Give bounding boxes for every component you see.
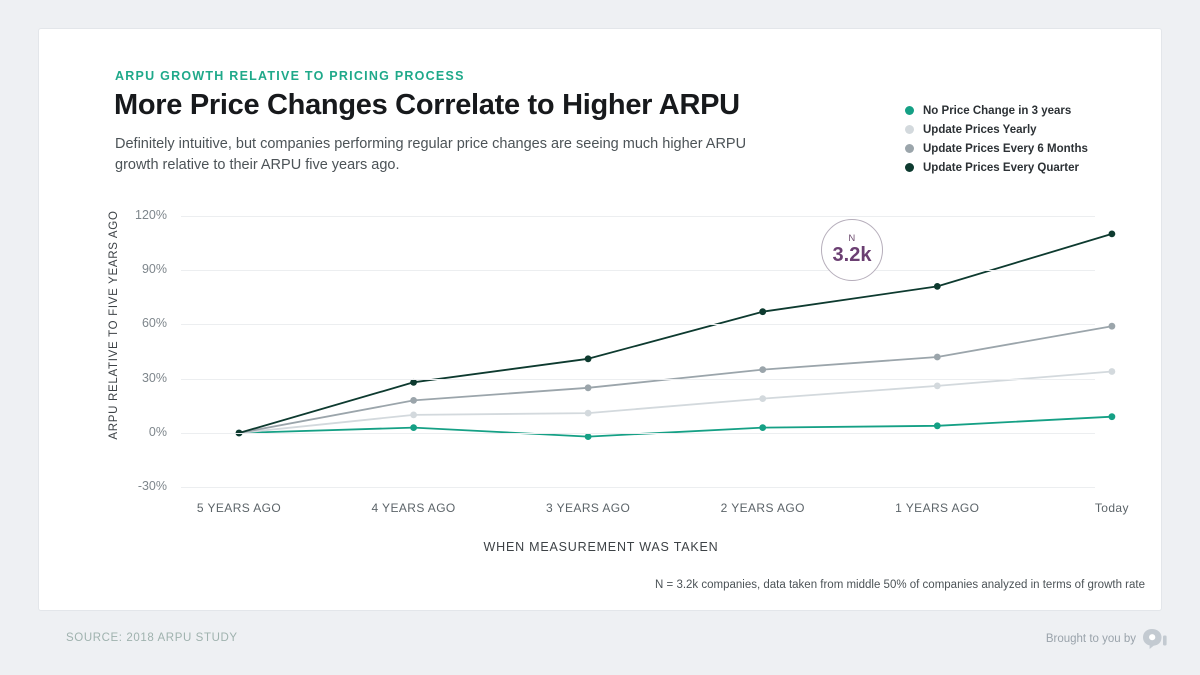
series-data-point[interactable] [1109, 231, 1116, 238]
series-line [239, 234, 1112, 433]
y-axis-tick-label: 60% [107, 316, 167, 330]
gridline [181, 216, 1095, 217]
gridline [181, 379, 1095, 380]
x-axis-tick-label: 4 YEARS AGO [334, 501, 494, 515]
gridline [181, 487, 1095, 488]
x-axis-title: WHEN MEASUREMENT WAS TAKEN [39, 540, 1163, 554]
screenshot-root: ARPU GROWTH RELATIVE TO PRICING PROCESS … [0, 0, 1200, 675]
chart-card: ARPU GROWTH RELATIVE TO PRICING PROCESS … [38, 28, 1162, 611]
series-data-point[interactable] [934, 422, 941, 429]
x-axis-tick-label: 2 YEARS AGO [683, 501, 843, 515]
series-data-point[interactable] [759, 395, 766, 402]
source-label: SOURCE: 2018 ARPU STUDY [66, 632, 238, 644]
series-data-point[interactable] [759, 308, 766, 315]
badge-value: 3.2k [833, 244, 872, 266]
y-axis-tick-label: 0% [107, 425, 167, 439]
series-data-point[interactable] [410, 379, 417, 386]
series-data-point[interactable] [934, 383, 941, 390]
y-axis-tick-label: 120% [107, 208, 167, 222]
chart-plot-area: ARPU RELATIVE TO FIVE YEARS AGO 120%90%6… [39, 29, 1163, 612]
series-data-point[interactable] [585, 384, 592, 391]
series-data-point[interactable] [1109, 413, 1116, 420]
series-data-point[interactable] [934, 283, 941, 290]
series-data-point[interactable] [759, 424, 766, 431]
series-data-point[interactable] [410, 397, 417, 404]
series-data-point[interactable] [1109, 323, 1116, 330]
y-axis-tick-label: 90% [107, 262, 167, 276]
series-data-point[interactable] [585, 355, 592, 362]
chart-footnote: N = 3.2k companies, data taken from midd… [655, 579, 1145, 591]
series-lines [39, 29, 1163, 612]
series-data-point[interactable] [585, 410, 592, 417]
y-axis-tick-label: 30% [107, 371, 167, 385]
x-axis-tick-label: 5 YEARS AGO [159, 501, 319, 515]
badge-label: N [848, 234, 855, 244]
series-data-point[interactable] [1109, 368, 1116, 375]
profitwell-logo-icon [1142, 628, 1168, 650]
series-data-point[interactable] [410, 412, 417, 419]
gridline [181, 270, 1095, 271]
y-axis-tick-label: -30% [107, 479, 167, 493]
series-data-point[interactable] [585, 433, 592, 440]
x-axis-tick-label: Today [1032, 501, 1192, 515]
series-data-point[interactable] [410, 424, 417, 431]
series-data-point[interactable] [934, 354, 941, 361]
sample-size-badge: N 3.2k [821, 219, 883, 281]
brought-to-you-by-label: Brought to you by [1046, 633, 1136, 645]
x-axis-tick-label: 1 YEARS AGO [857, 501, 1017, 515]
gridline [181, 433, 1095, 434]
gridline [181, 324, 1095, 325]
series-data-point[interactable] [759, 366, 766, 373]
x-axis-tick-label: 3 YEARS AGO [508, 501, 668, 515]
